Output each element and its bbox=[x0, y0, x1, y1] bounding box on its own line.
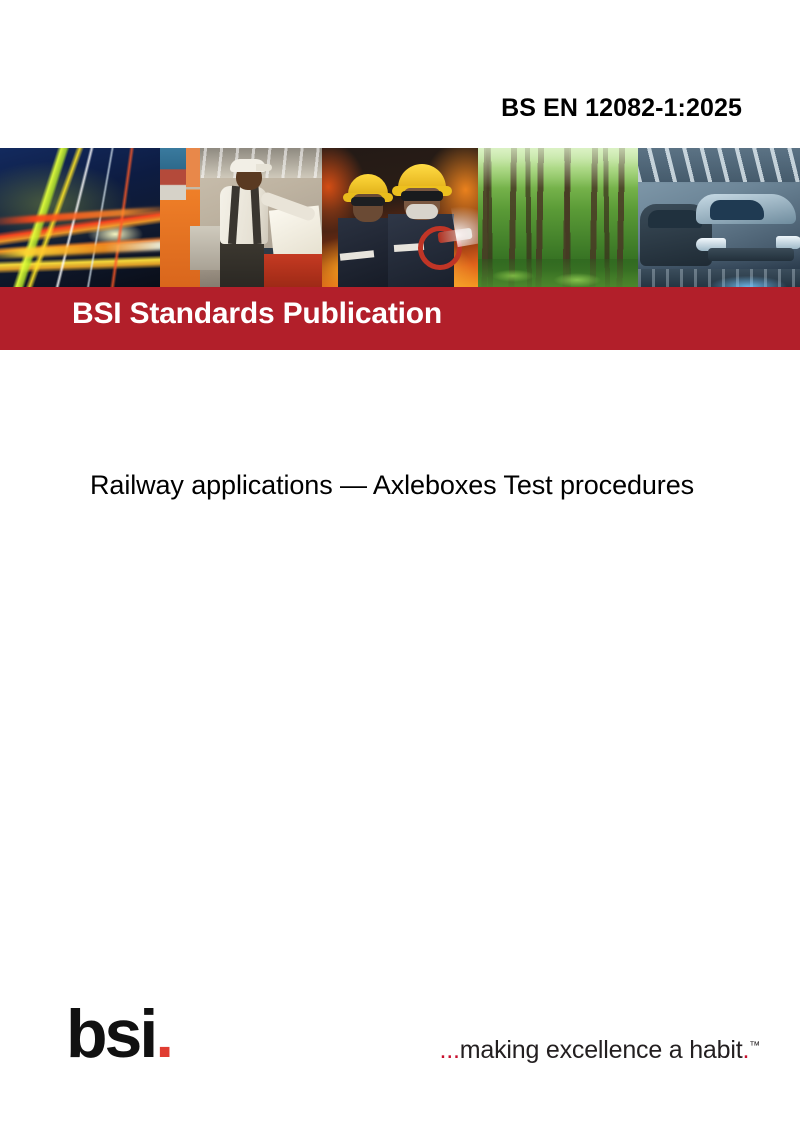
publication-title: Railway applications — Axleboxes Test pr… bbox=[90, 470, 800, 501]
red-bin bbox=[256, 254, 322, 287]
firefighters-photo bbox=[322, 148, 478, 287]
trademark-symbol: ™ bbox=[749, 1040, 760, 1052]
forest-photo bbox=[478, 148, 638, 287]
shelf-stock bbox=[160, 148, 186, 200]
bsi-logo-text: bsi bbox=[66, 996, 155, 1072]
warehouse-cart bbox=[190, 226, 220, 270]
cover-banner: BSI Standards Publication bbox=[0, 148, 800, 350]
bsi-standards-publication-bar: BSI Standards Publication bbox=[0, 287, 800, 350]
worker-cap bbox=[230, 159, 266, 172]
standard-reference-number: BS EN 12082-1:2025 bbox=[501, 94, 742, 123]
bsi-logo-dot: . bbox=[155, 996, 171, 1072]
bsi-tagline: ...making excellence a habit.™ bbox=[440, 1036, 760, 1065]
bsi-standards-publication-label: BSI Standards Publication bbox=[72, 297, 442, 331]
firefighter-visor-rear bbox=[351, 197, 385, 206]
breathing-mask bbox=[406, 204, 438, 219]
tagline-text: making excellence a habit bbox=[460, 1036, 743, 1064]
banner-photo-strip bbox=[0, 148, 800, 287]
forest-floor bbox=[478, 259, 638, 287]
warehouse-worker-photo bbox=[160, 148, 322, 287]
train-light-trails-photo bbox=[0, 148, 160, 287]
factory-roof-lighting bbox=[638, 148, 800, 182]
tagline-ellipsis: ... bbox=[440, 1036, 460, 1064]
worker-legs bbox=[220, 240, 264, 287]
car-assembly-photo bbox=[638, 148, 800, 287]
bsi-logo: bsi. bbox=[66, 1000, 171, 1068]
foreground-car-cabin bbox=[710, 200, 764, 220]
firefighter-visor-front bbox=[401, 191, 443, 201]
floor-light-reflection bbox=[692, 257, 800, 287]
forest-canopy-light bbox=[478, 148, 638, 188]
